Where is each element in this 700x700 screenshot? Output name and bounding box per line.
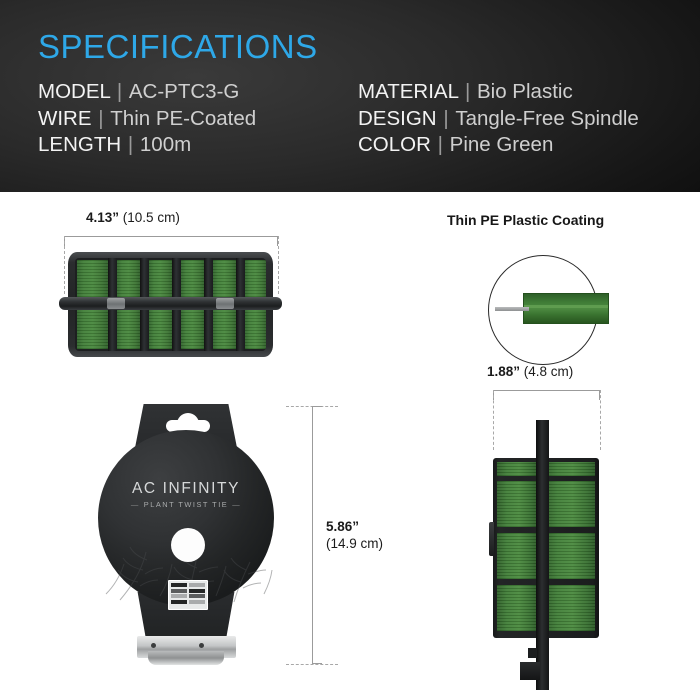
sticker-cell: [171, 594, 187, 598]
dimension-metric: (10.5 cm): [123, 210, 180, 225]
spec-key-material: MATERIAL: [358, 80, 458, 103]
spec-value-length: 100m: [140, 133, 191, 156]
sticker-row: [171, 589, 205, 593]
wire-cell: [117, 310, 140, 349]
spec-separator: |: [437, 133, 444, 156]
spool-top-view: [68, 252, 273, 357]
spec-value-model: AC-PTC3-G: [129, 80, 239, 103]
product-line-label: —PLANT TWIST TIE—: [76, 500, 296, 509]
wire-cell: [149, 310, 172, 349]
wire-cell: [117, 260, 140, 300]
sticker-cell: [171, 589, 187, 593]
disc-front-view: AC INFINITY —PLANT TWIST TIE—: [76, 404, 296, 674]
spec-row-color: COLOR | Pine Green: [358, 132, 639, 158]
sticker-row: [171, 594, 205, 598]
wire-cell: [545, 462, 595, 476]
spec-key-color: COLOR: [358, 133, 431, 156]
sticker-cell: [189, 594, 205, 598]
cutter-lip: [148, 651, 224, 665]
sticker-cell: [189, 583, 205, 587]
wire-cell: [77, 310, 108, 349]
extension-line-right: [278, 236, 279, 294]
product-line-text: PLANT TWIST TIE: [144, 500, 228, 509]
spool-spine: [536, 420, 549, 690]
spec-key-length: LENGTH: [38, 133, 121, 156]
page-title: SPECIFICATIONS: [38, 30, 318, 63]
spec-key-wire: WIRE: [38, 107, 92, 130]
wire-highlight: [524, 305, 608, 308]
sticker-cell: [189, 600, 205, 604]
retaining-band: [59, 297, 282, 310]
spec-value-color: Pine Green: [450, 133, 554, 156]
sticker-cell: [189, 589, 205, 593]
dimension-inches: 5.86”: [326, 519, 359, 534]
wire-cell: [213, 310, 236, 349]
spec-column-left: MODEL | AC-PTC3-G WIRE | Thin PE-Coated …: [38, 79, 256, 159]
wire-metal-core: [495, 307, 529, 311]
spec-separator: |: [116, 80, 123, 103]
wire-cell: [545, 481, 595, 527]
screw-dot: [151, 643, 156, 648]
screw-dot: [199, 643, 204, 648]
extension-line-left: [64, 236, 65, 294]
extension-line-bottom: [286, 664, 338, 665]
diagram-area: 4.13” (10.5 cm): [0, 192, 700, 700]
wire-cell: [545, 533, 595, 579]
sticker-cell: [171, 583, 187, 587]
wire-cell: [497, 481, 537, 527]
spec-column-right: MATERIAL | Bio Plastic DESIGN | Tangle-F…: [358, 79, 639, 159]
product-sticker: [168, 580, 208, 610]
wire-coating: [523, 293, 609, 324]
spec-separator: |: [442, 107, 449, 130]
spec-separator: |: [127, 133, 134, 156]
dimension-label-width-side: 1.88” (4.8 cm): [487, 364, 573, 379]
dimension-metric: (14.9 cm): [326, 536, 383, 551]
wire-cell: [497, 533, 537, 579]
wire-cell: [497, 462, 537, 476]
wire-cell: [545, 585, 595, 631]
wire-cell: [245, 310, 266, 349]
dimension-metric: (4.8 cm): [524, 364, 574, 379]
spec-row-design: DESIGN | Tangle-Free Spindle: [358, 106, 639, 132]
wire-cell: [149, 260, 172, 300]
dimension-bracket-top: [64, 236, 278, 237]
wire-cell: [213, 260, 236, 300]
wire-cell: [181, 260, 204, 300]
dimension-inches: 4.13”: [86, 210, 119, 225]
spine-foot: [520, 662, 540, 680]
dimension-inches: 1.88”: [487, 364, 520, 379]
band-clip: [216, 298, 234, 309]
spec-row-wire: WIRE | Thin PE-Coated: [38, 106, 256, 132]
spec-value-design: Tangle-Free Spindle: [455, 107, 638, 130]
spool-side-view: [470, 400, 630, 690]
dash-right: —: [228, 500, 245, 509]
dash-left: —: [127, 500, 144, 509]
dimension-label-height: 5.86” (14.9 cm): [326, 518, 383, 552]
spec-value-wire: Thin PE-Coated: [110, 107, 256, 130]
side-clip: [489, 522, 494, 556]
wire-cell: [181, 310, 204, 349]
pe-coating-title: Thin PE Plastic Coating: [447, 212, 604, 228]
spec-separator: |: [464, 80, 471, 103]
brand-name: AC INFINITY: [76, 480, 296, 498]
spine-nub: [528, 648, 537, 658]
spec-row-model: MODEL | AC-PTC3-G: [38, 79, 256, 105]
spec-row-length: LENGTH | 100m: [38, 132, 256, 158]
spec-key-design: DESIGN: [358, 107, 437, 130]
spec-row-material: MATERIAL | Bio Plastic: [358, 79, 639, 105]
wire-cell: [77, 260, 108, 300]
wire-cell: [245, 260, 266, 300]
dimension-bracket-height: [312, 406, 313, 664]
sticker-row: [171, 600, 205, 604]
sticker-cell: [171, 600, 187, 604]
center-hole: [171, 528, 205, 562]
specifications-header: SPECIFICATIONS MODEL | AC-PTC3-G WIRE | …: [0, 0, 700, 192]
spec-separator: |: [97, 107, 104, 130]
spec-key-model: MODEL: [38, 80, 110, 103]
dimension-label-width-top: 4.13” (10.5 cm): [86, 210, 180, 225]
wire-cell: [497, 585, 537, 631]
dimension-bracket-side: [493, 390, 600, 391]
sticker-row: [171, 583, 205, 587]
pe-coating-detail: [447, 247, 637, 372]
spec-value-material: Bio Plastic: [477, 80, 573, 103]
band-clip: [107, 298, 125, 309]
